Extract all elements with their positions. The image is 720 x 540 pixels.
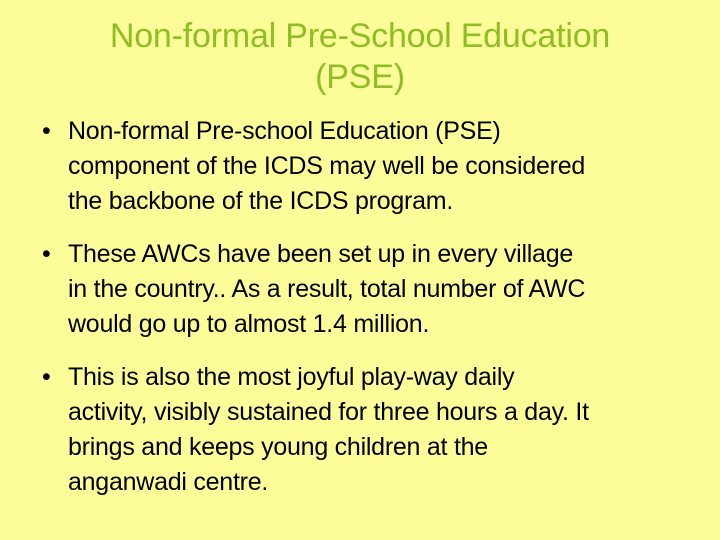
bullet-2-line-2: in the country.. As a result, total numb… — [68, 272, 700, 307]
bullet-text: These AWCs have been set up in every vil… — [68, 237, 700, 342]
bullet-point-icon: • — [42, 237, 56, 272]
bullet-point-icon: • — [42, 114, 56, 149]
slide-title: Non-formal Pre-School Education (PSE) — [40, 16, 680, 98]
bullet-3-line-4: anganwadi centre. — [68, 465, 700, 500]
bullet-2-line-3: would go up to almost 1.4 million. — [68, 307, 700, 342]
presentation-slide: Non-formal Pre-School Education (PSE) • … — [0, 0, 720, 540]
list-item: • These AWCs have been set up in every v… — [30, 237, 700, 342]
bullet-1-line-2: component of the ICDS may well be consid… — [68, 149, 700, 184]
bullet-text: Non-formal Pre-school Education (PSE) co… — [68, 114, 700, 219]
slide-title-line-1: Non-formal Pre-School Education — [40, 16, 680, 57]
bullet-3-line-3: brings and keeps young children at the — [68, 430, 700, 465]
bullet-1-line-3: the backbone of the ICDS program. — [68, 184, 700, 219]
bullet-1-line-1: Non-formal Pre-school Education (PSE) — [68, 114, 700, 149]
bullet-3-line-2: activity, visibly sustained for three ho… — [68, 395, 700, 430]
list-item: • Non-formal Pre-school Education (PSE) … — [30, 114, 700, 219]
slide-title-line-2: (PSE) — [40, 57, 680, 98]
bullet-text: This is also the most joyful play-way da… — [68, 360, 700, 500]
bullet-2-line-1: These AWCs have been set up in every vil… — [68, 237, 700, 272]
bullet-3-line-1: This is also the most joyful play-way da… — [68, 360, 700, 395]
list-item: • This is also the most joyful play-way … — [30, 360, 700, 500]
slide-body-bullet-list: • Non-formal Pre-school Education (PSE) … — [30, 114, 700, 500]
bullet-point-icon: • — [42, 360, 56, 395]
